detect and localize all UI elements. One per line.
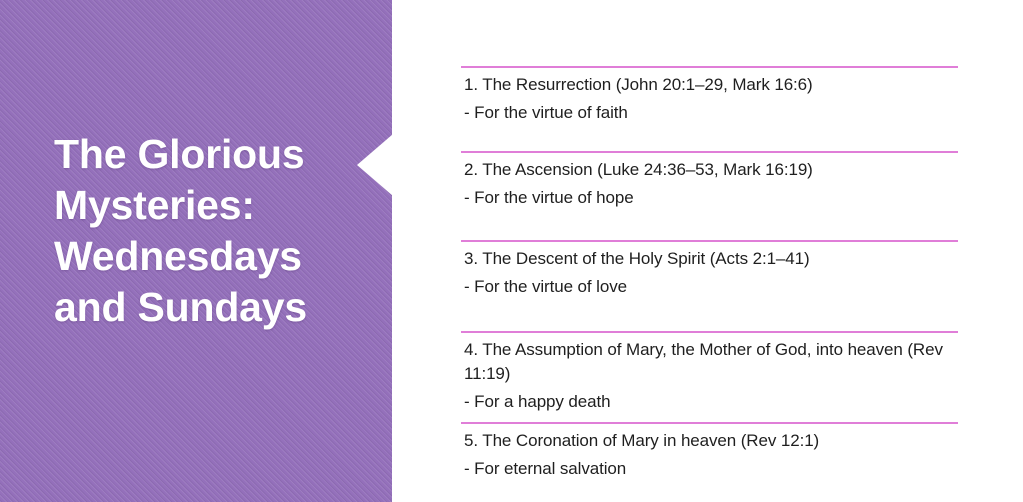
list-item: 4. The Assumption of Mary, the Mother of… — [461, 331, 958, 414]
title-panel: The Glorious Mysteries: Wednesdays and S… — [0, 0, 392, 502]
mystery-list: 1. The Resurrection (John 20:1–29, Mark … — [461, 66, 958, 481]
spacer — [461, 210, 958, 240]
mystery-title: 3. The Descent of the Holy Spirit (Acts … — [464, 247, 958, 271]
mystery-virtue: - For the virtue of faith — [464, 101, 958, 125]
list-item: 2. The Ascension (Luke 24:36–53, Mark 16… — [461, 151, 958, 210]
mystery-title: 1. The Resurrection (John 20:1–29, Mark … — [464, 73, 958, 97]
list-item-body: 1. The Resurrection (John 20:1–29, Mark … — [461, 68, 958, 125]
spacer — [461, 414, 958, 422]
mystery-virtue: - For the virtue of hope — [464, 186, 958, 210]
page-title: The Glorious Mysteries: Wednesdays and S… — [54, 129, 354, 333]
list-item: 5. The Coronation of Mary in heaven (Rev… — [461, 422, 958, 481]
list-item-body: 3. The Descent of the Holy Spirit (Acts … — [461, 242, 958, 299]
list-item-body: 4. The Assumption of Mary, the Mother of… — [461, 333, 958, 414]
mystery-virtue: - For the virtue of love — [464, 275, 958, 299]
panel-arrow-notch-icon — [357, 134, 393, 196]
list-item: 1. The Resurrection (John 20:1–29, Mark … — [461, 66, 958, 125]
mystery-virtue: - For a happy death — [464, 390, 958, 414]
list-item-body: 2. The Ascension (Luke 24:36–53, Mark 16… — [461, 153, 958, 210]
mystery-title: 5. The Coronation of Mary in heaven (Rev… — [464, 429, 958, 453]
list-item-body: 5. The Coronation of Mary in heaven (Rev… — [461, 424, 958, 481]
mystery-title: 4. The Assumption of Mary, the Mother of… — [464, 338, 958, 386]
list-item: 3. The Descent of the Holy Spirit (Acts … — [461, 240, 958, 299]
spacer — [461, 125, 958, 151]
mystery-title: 2. The Ascension (Luke 24:36–53, Mark 16… — [464, 158, 958, 182]
spacer — [461, 299, 958, 331]
mystery-virtue: - For eternal salvation — [464, 457, 958, 481]
